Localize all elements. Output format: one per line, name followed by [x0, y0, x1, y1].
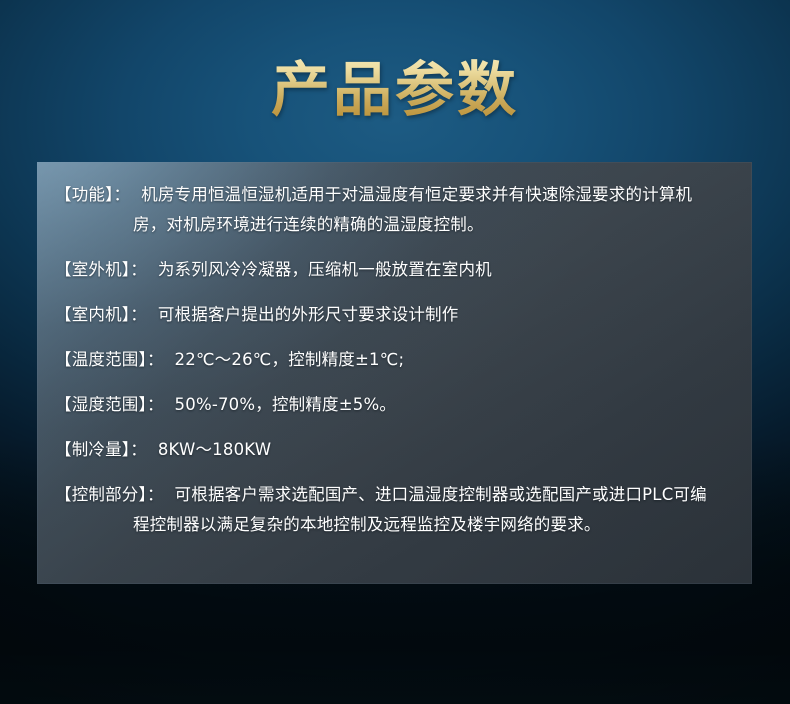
page-title: 产品参数 [271, 57, 519, 123]
spec-row-value-continued: 房，对机房环境进行连续的精确的温湿度控制。 [55, 210, 734, 240]
spec-row-value: 可根据客户需求选配国产、进口温湿度控制器或选配国产或进口PLC可编 [164, 485, 707, 504]
spec-row-value: 8KW～180KW [147, 440, 271, 459]
spec-row-label: 【温度范围】： [55, 350, 164, 369]
spec-row: 【制冷量】： 8KW～180KW [55, 435, 734, 465]
spec-row-label: 【湿度范围】： [55, 395, 164, 414]
spec-row: 【室外机】： 为系列风冷冷凝器，压缩机一般放置在室内机 [55, 255, 734, 285]
page-title-container: 产品参数 [0, 57, 790, 123]
spec-row: 【控制部分】： 可根据客户需求选配国产、进口温湿度控制器或选配国产或进口PLC可… [55, 480, 734, 540]
spec-row-label: 【制冷量】： [55, 440, 147, 459]
spec-row-value: 为系列风冷冷凝器，压缩机一般放置在室内机 [147, 260, 492, 279]
spec-row-label: 【室外机】： [55, 260, 147, 279]
spec-row-value: 可根据客户提出的外形尺寸要求设计制作 [147, 305, 459, 324]
spec-row-label: 【功能】： [55, 185, 130, 204]
spec-row-label: 【室内机】： [55, 305, 147, 324]
spec-list: 【功能】： 机房专用恒温恒湿机适用于对温湿度有恒定要求并有快速除湿要求的计算机房… [37, 162, 752, 554]
spec-row: 【功能】： 机房专用恒温恒湿机适用于对温湿度有恒定要求并有快速除湿要求的计算机房… [55, 180, 734, 240]
spec-row: 【湿度范围】： 50%-70%，控制精度±5%。 [55, 390, 734, 420]
spec-row: 【室内机】： 可根据客户提出的外形尺寸要求设计制作 [55, 300, 734, 330]
spec-row-value: 机房专用恒温恒湿机适用于对温湿度有恒定要求并有快速除湿要求的计算机 [130, 185, 692, 204]
spec-row-value: 22℃～26℃，控制精度±1℃; [164, 350, 405, 369]
product-parameters-page: 产品参数 【功能】： 机房专用恒温恒湿机适用于对温湿度有恒定要求并有快速除湿要求… [0, 0, 790, 704]
spec-row: 【温度范围】： 22℃～26℃，控制精度±1℃; [55, 345, 734, 375]
spec-row-label: 【控制部分】： [55, 485, 164, 504]
spec-row-value-continued: 程控制器以满足复杂的本地控制及远程监控及楼宇网络的要求。 [55, 510, 734, 540]
spec-panel: 【功能】： 机房专用恒温恒湿机适用于对温湿度有恒定要求并有快速除湿要求的计算机房… [37, 162, 752, 584]
spec-row-value: 50%-70%，控制精度±5%。 [164, 395, 396, 414]
